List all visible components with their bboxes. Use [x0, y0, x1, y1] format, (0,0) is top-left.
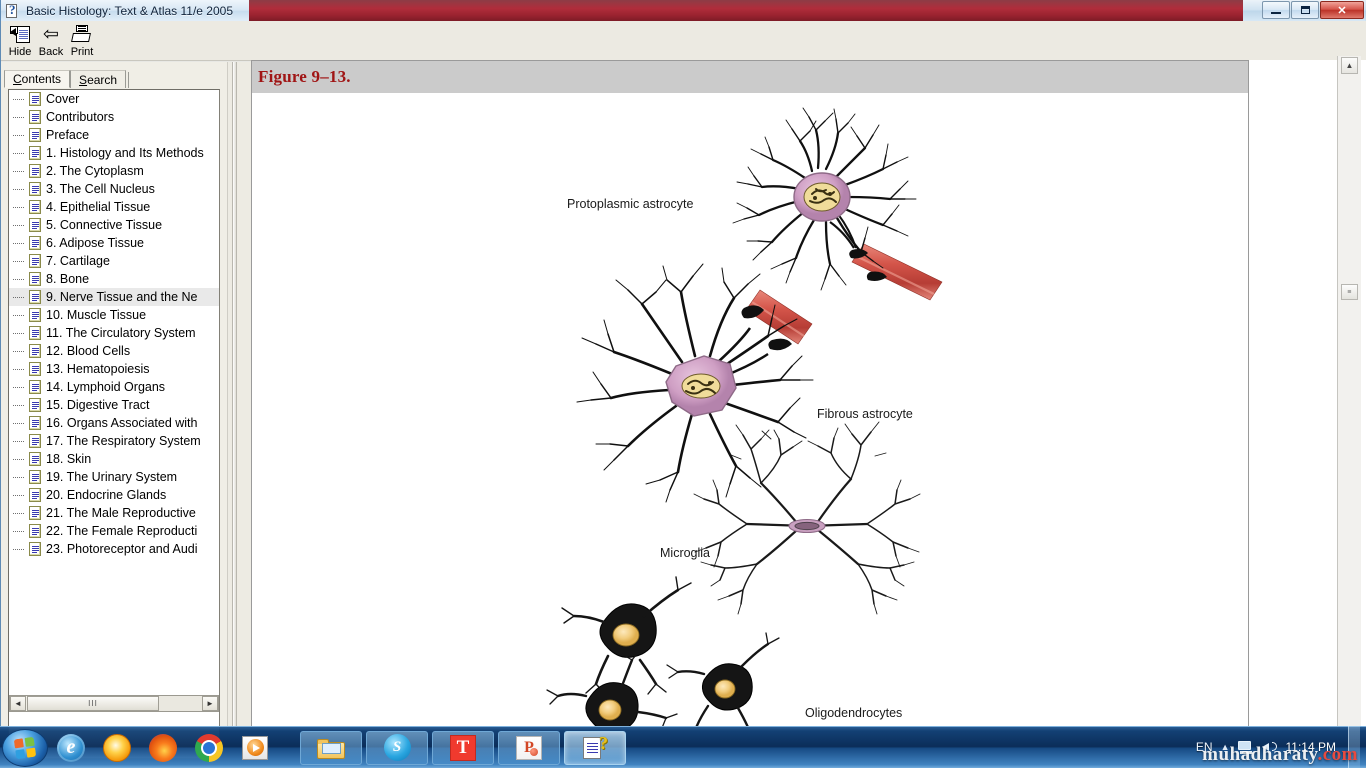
tree-item[interactable]: 8. Bone [9, 270, 219, 288]
tree-item[interactable]: 5. Connective Tissue [9, 216, 219, 234]
tree-item[interactable]: 7. Cartilage [9, 252, 219, 270]
title-bar-left: ? Basic Histology: Text & Atlas 11/e 200… [1, 0, 249, 21]
taskbar-item-powerpoint[interactable]: P [498, 731, 560, 765]
document-icon [29, 128, 41, 142]
tree-item-label: 8. Bone [46, 272, 89, 286]
document-icon [29, 182, 41, 196]
tree-connector-line [13, 351, 24, 352]
start-button[interactable] [2, 729, 48, 767]
document-icon [29, 452, 41, 466]
document-icon [29, 488, 41, 502]
hide-label: Hide [9, 46, 32, 58]
system-tray: EN ▲ 11:14 PM [1196, 726, 1366, 768]
chrome-icon [195, 734, 223, 762]
protoplasmic-astrocyte-figure [733, 108, 942, 300]
tree-item[interactable]: 19. The Urinary System [9, 468, 219, 486]
document-area: Figure 9–13. [251, 60, 1249, 726]
vertical-thumb-grip: ≡ [1347, 289, 1352, 296]
internet-explorer-icon: e [57, 734, 85, 762]
tree-connector-line [13, 333, 24, 334]
tree-item[interactable]: 4. Epithelial Tissue [9, 198, 219, 216]
tree-connector-line [13, 297, 24, 298]
sun-app-icon [103, 734, 131, 762]
tree-item-label: 6. Adipose Tissue [46, 236, 144, 250]
help-book-icon: ? [5, 3, 21, 19]
tree-item-label: 7. Cartilage [46, 254, 110, 268]
tree-item-label: 15. Digestive Tract [46, 398, 150, 412]
tab-search-accel: S [79, 73, 87, 87]
hide-icon [10, 23, 30, 45]
document-icon [29, 470, 41, 484]
tree-item-label: Contributors [46, 110, 114, 124]
document-icon [29, 164, 41, 178]
title-bar-fill [249, 0, 1243, 21]
figure-canvas: Protoplasmic astrocyte Fibrous astrocyte… [252, 94, 1248, 726]
tab-separator [128, 72, 129, 88]
tab-search[interactable]: Search [70, 70, 126, 88]
scroll-right-arrow[interactable]: ► [202, 696, 218, 711]
tree-item-label: 18. Skin [46, 452, 91, 466]
show-hidden-icons-arrow[interactable]: ▲ [1221, 742, 1230, 752]
document-icon [29, 344, 41, 358]
skype-icon: S [384, 734, 411, 761]
quicklaunch-sun-app[interactable] [94, 729, 140, 767]
language-indicator[interactable]: EN [1196, 740, 1213, 754]
taskbar-item-t-app[interactable]: T [432, 731, 494, 765]
tree-item-label: 17. The Respiratory System [46, 434, 201, 448]
label-microglia: Microglia [660, 546, 710, 560]
tree-item[interactable]: Contributors [9, 108, 219, 126]
scroll-left-arrow[interactable]: ◄ [10, 696, 26, 711]
document-icon [29, 218, 41, 232]
vertical-scroll-thumb[interactable]: ≡ [1341, 284, 1358, 300]
tree-connector-line [13, 189, 24, 190]
tree-item[interactable]: 10. Muscle Tissue [9, 306, 219, 324]
tree-item-label: 19. The Urinary System [46, 470, 177, 484]
tree-item-label: 10. Muscle Tissue [46, 308, 146, 322]
powerpoint-icon: P [516, 736, 542, 760]
back-arrow-icon: ⇦ [43, 23, 59, 45]
tree-connector-line [13, 279, 24, 280]
tree-item-label: 9. Nerve Tissue and the Ne [46, 290, 197, 304]
quicklaunch-internet-explorer[interactable]: e [48, 729, 94, 767]
tree-item-label: 4. Epithelial Tissue [46, 200, 150, 214]
document-icon [29, 308, 41, 322]
document-icon [29, 380, 41, 394]
tree-connector-line [13, 459, 24, 460]
figure-title: Figure 9–13. [258, 67, 351, 87]
window-controls: ✕ [1262, 1, 1364, 19]
tree-item-label: 13. Hematopoiesis [46, 362, 150, 376]
back-button[interactable]: ⇦ Back [34, 23, 68, 59]
tree-item[interactable]: 14. Lymphoid Organs [9, 378, 219, 396]
content-vertical-scrollbar[interactable]: ▲ ≡ [1337, 56, 1361, 726]
tab-contents-accel: C [13, 72, 22, 86]
tree-connector-line [13, 153, 24, 154]
tab-contents[interactable]: Contents [4, 70, 70, 88]
window-title: Basic Histology: Text & Atlas 11/e 2005 [26, 4, 233, 18]
tree-item[interactable]: 21. The Male Reproductive [9, 504, 219, 522]
tree-item[interactable]: 12. Blood Cells [9, 342, 219, 360]
tree-item-label: 21. The Male Reproductive [46, 506, 196, 520]
tree-connector-line [13, 315, 24, 316]
oligodendrocyte-lower-left [547, 650, 677, 726]
hide-button[interactable]: Hide [3, 23, 37, 59]
tab-contents-label: ontents [22, 72, 61, 86]
print-label: Print [71, 46, 94, 58]
tree-item[interactable]: 23. Photoreceptor and Audi [9, 540, 219, 558]
tree-item[interactable]: 1. Histology and Its Methods [9, 144, 219, 162]
tree-item[interactable]: Preface [9, 126, 219, 144]
print-button[interactable]: Print [65, 23, 99, 59]
tree-item[interactable]: Cover [9, 90, 219, 108]
media-player-icon [242, 736, 268, 760]
tree-item-label: 22. The Female Reproducti [46, 524, 197, 538]
document-icon [29, 398, 41, 412]
folder-icon [317, 737, 345, 759]
tree-item[interactable]: 15. Digestive Tract [9, 396, 219, 414]
navigation-pane: Contents Search CoverContributorsPreface… [1, 62, 227, 726]
taskbar: e S T P ? [0, 726, 1366, 768]
help-document-icon: ? [583, 735, 607, 760]
contents-tree[interactable]: CoverContributorsPreface1. Histology and… [8, 89, 220, 759]
pane-splitter[interactable] [227, 62, 251, 726]
tree-connector-line [13, 549, 24, 550]
figure-header: Figure 9–13. [252, 61, 1248, 93]
document-icon [29, 290, 41, 304]
printer-icon [71, 23, 93, 45]
minimize-button[interactable] [1262, 1, 1290, 19]
document-icon [29, 254, 41, 268]
tree-item[interactable]: 6. Adipose Tissue [9, 234, 219, 252]
taskbar-item-help-viewer[interactable]: ? [564, 731, 626, 765]
contents-horizontal-scrollbar[interactable]: ◄ III ► [9, 695, 219, 712]
tree-item[interactable]: 18. Skin [9, 450, 219, 468]
tree-item-label: Preface [46, 128, 89, 142]
tree-connector-line [13, 387, 24, 388]
tree-item-label: 5. Connective Tissue [46, 218, 162, 232]
tree-item[interactable]: 20. Endocrine Glands [9, 486, 219, 504]
document-icon [29, 542, 41, 556]
scroll-up-arrow[interactable]: ▲ [1341, 57, 1358, 74]
scroll-thumb-grip: III [88, 699, 98, 708]
tree-connector-line [13, 531, 24, 532]
horizontal-scroll-track[interactable] [159, 696, 202, 711]
quicklaunch-chrome[interactable] [186, 729, 232, 767]
tree-connector-line [13, 207, 24, 208]
tree-item-label: 2. The Cytoplasm [46, 164, 144, 178]
tree-item[interactable]: 3. The Cell Nucleus [9, 180, 219, 198]
tree-item-label: 11. The Circulatory System [46, 326, 196, 340]
label-fibrous-astrocyte: Fibrous astrocyte [817, 407, 913, 421]
tree-item[interactable]: 11. The Circulatory System [9, 324, 219, 342]
tree-connector-line [13, 405, 24, 406]
horizontal-scroll-thumb[interactable]: III [27, 696, 159, 711]
tree-item-label: 14. Lymphoid Organs [46, 380, 165, 394]
tree-connector-line [13, 225, 24, 226]
document-icon [29, 200, 41, 214]
oligodendrocytes-figure [547, 577, 779, 726]
document-icon [29, 92, 41, 106]
tree-item[interactable]: 2. The Cytoplasm [9, 162, 219, 180]
volume-icon[interactable] [1262, 740, 1278, 754]
t-app-icon: T [450, 735, 476, 761]
help-viewer-window: ? Basic Histology: Text & Atlas 11/e 200… [0, 0, 1366, 726]
back-label: Back [39, 46, 63, 58]
label-oligodendrocytes: Oligodendrocytes [805, 706, 902, 720]
network-icon[interactable] [1238, 741, 1254, 754]
splitter-grip[interactable] [232, 62, 237, 726]
tab-search-label: earch [87, 73, 117, 87]
firefox-icon [149, 734, 177, 762]
quicklaunch-media-player[interactable] [232, 729, 278, 767]
content-pane: Figure 9–13. [251, 60, 1366, 726]
quicklaunch-firefox[interactable] [140, 729, 186, 767]
tree-connector-line [13, 99, 24, 100]
document-icon [29, 362, 41, 376]
oligodendrocyte-right [667, 633, 779, 726]
tree-connector-line [13, 441, 24, 442]
document-icon [29, 326, 41, 340]
document-icon [29, 506, 41, 520]
tree-item[interactable]: 16. Organs Associated with [9, 414, 219, 432]
tree-item-label: 16. Organs Associated with [46, 416, 197, 430]
show-desktop-button[interactable] [1348, 726, 1360, 768]
tree-item[interactable]: 22. The Female Reproducti [9, 522, 219, 540]
tree-item-label: 1. Histology and Its Methods [46, 146, 204, 160]
tree-connector-line [13, 243, 24, 244]
tree-item-label: 12. Blood Cells [46, 344, 130, 358]
title-bar[interactable]: ? Basic Histology: Text & Atlas 11/e 200… [1, 0, 1366, 21]
tree-connector-line [13, 171, 24, 172]
tree-item[interactable]: 17. The Respiratory System [9, 432, 219, 450]
tree-item-label: 3. The Cell Nucleus [46, 182, 155, 196]
tree-item[interactable]: 13. Hematopoiesis [9, 360, 219, 378]
document-icon [29, 236, 41, 250]
neuroglia-illustration [252, 94, 1248, 726]
document-icon [29, 434, 41, 448]
tree-connector-line [13, 369, 24, 370]
tree-connector-line [13, 513, 24, 514]
tree-item-label: Cover [46, 92, 79, 106]
tree-connector-line [13, 135, 24, 136]
tree-connector-line [13, 117, 24, 118]
nav-tabs: Contents Search [4, 70, 129, 88]
tree-item[interactable]: 9. Nerve Tissue and the Ne [9, 288, 219, 306]
document-icon [29, 416, 41, 430]
desktop: Nerve tissue and Microsoft PowerPoint - … [0, 0, 1366, 768]
document-icon [29, 110, 41, 124]
tree-connector-line [13, 423, 24, 424]
close-button[interactable]: ✕ [1320, 1, 1364, 19]
document-icon [29, 146, 41, 160]
toolbar: Hide ⇦ Back Print [1, 21, 1366, 61]
tree-connector-line [13, 477, 24, 478]
tree-item-label: 23. Photoreceptor and Audi [46, 542, 198, 556]
label-protoplasmic-astrocyte: Protoplasmic astrocyte [567, 197, 693, 211]
fibrous-astrocyte-figure [577, 264, 813, 502]
document-icon [29, 272, 41, 286]
tree-connector-line [13, 261, 24, 262]
maximize-restore-button[interactable] [1291, 1, 1319, 19]
clock[interactable]: 11:14 PM [1286, 740, 1336, 754]
tree-connector-line [13, 495, 24, 496]
tree-item-label: 20. Endocrine Glands [46, 488, 166, 502]
taskbar-item-skype[interactable]: S [366, 731, 428, 765]
windows-logo-icon [14, 736, 37, 759]
document-icon [29, 524, 41, 538]
taskbar-item-windows-explorer[interactable] [300, 731, 362, 765]
